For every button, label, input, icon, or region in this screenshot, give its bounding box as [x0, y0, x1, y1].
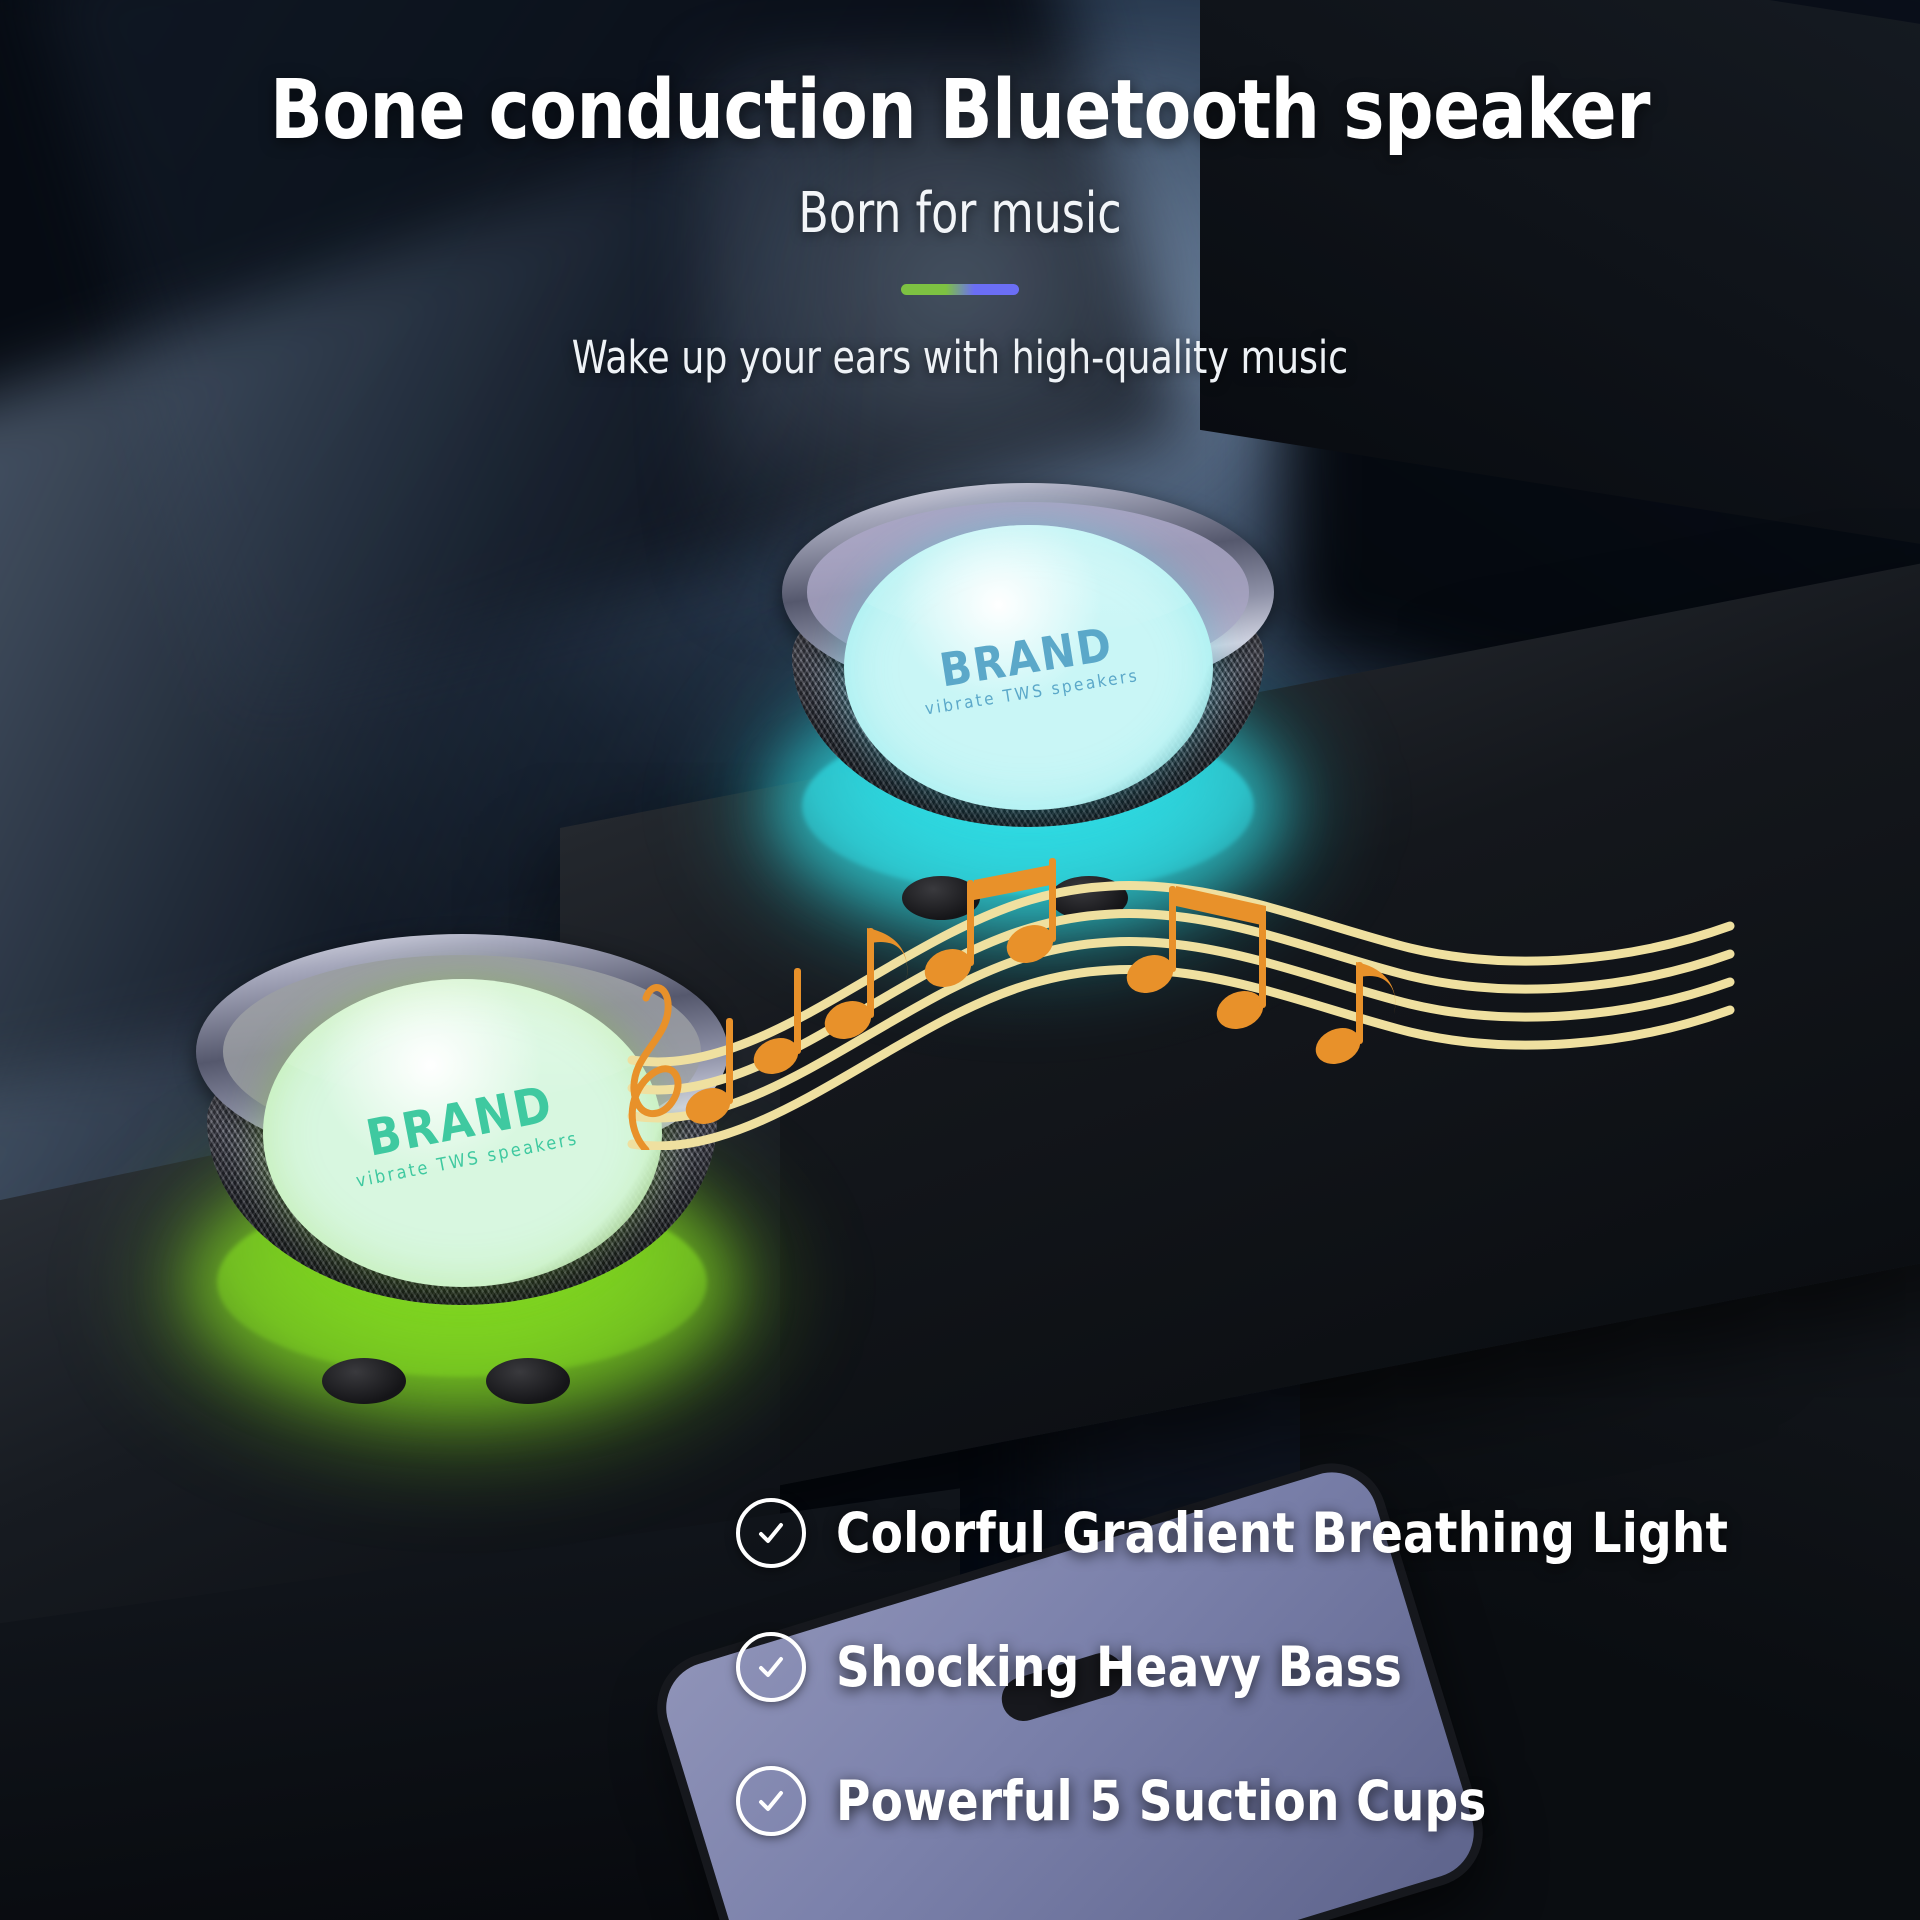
feature-label: Shocking Heavy Bass: [836, 1635, 1402, 1699]
product-banner: Bone conduction Bluetooth speaker Born f…: [0, 0, 1920, 1920]
check-circle-icon: [736, 1766, 806, 1836]
speaker-cyan[interactable]: BRAND vibrate TWS speakers: [782, 466, 1274, 886]
feature-label: Colorful Gradient Breathing Light: [836, 1501, 1728, 1565]
feature-item: Powerful 5 Suction Cups: [736, 1766, 1775, 1836]
speaker-green[interactable]: BRAND vibrate TWS speakers: [196, 916, 728, 1368]
page-subtitle: Born for music: [115, 155, 1805, 246]
glowing-top-lens-cyan[interactable]: BRAND vibrate TWS speakers: [844, 525, 1213, 811]
suction-cup-foot: [486, 1358, 570, 1404]
feature-item: Colorful Gradient Breathing Light: [736, 1498, 1775, 1568]
check-circle-icon: [736, 1632, 806, 1702]
lens-sheen: [263, 979, 662, 1102]
feature-label: Powerful 5 Suction Cups: [836, 1769, 1487, 1833]
header: Bone conduction Bluetooth speaker Born f…: [0, 0, 1920, 384]
check-circle-icon: [736, 1498, 806, 1568]
suction-cup-foot: [322, 1358, 406, 1404]
suction-cup-foot: [902, 876, 980, 920]
page-title: Bone conduction Bluetooth speaker: [58, 0, 1863, 155]
page-tagline: Wake up your ears with high-quality musi…: [96, 295, 1824, 384]
glowing-top-lens-green[interactable]: BRAND vibrate TWS speakers: [263, 979, 662, 1286]
feature-list: Colorful Gradient Breathing Light Shocki…: [736, 1498, 1775, 1836]
suction-cup-foot: [1050, 876, 1128, 920]
gradient-divider: [901, 284, 1019, 295]
feature-item: Shocking Heavy Bass: [736, 1632, 1775, 1702]
lens-sheen: [844, 525, 1213, 639]
